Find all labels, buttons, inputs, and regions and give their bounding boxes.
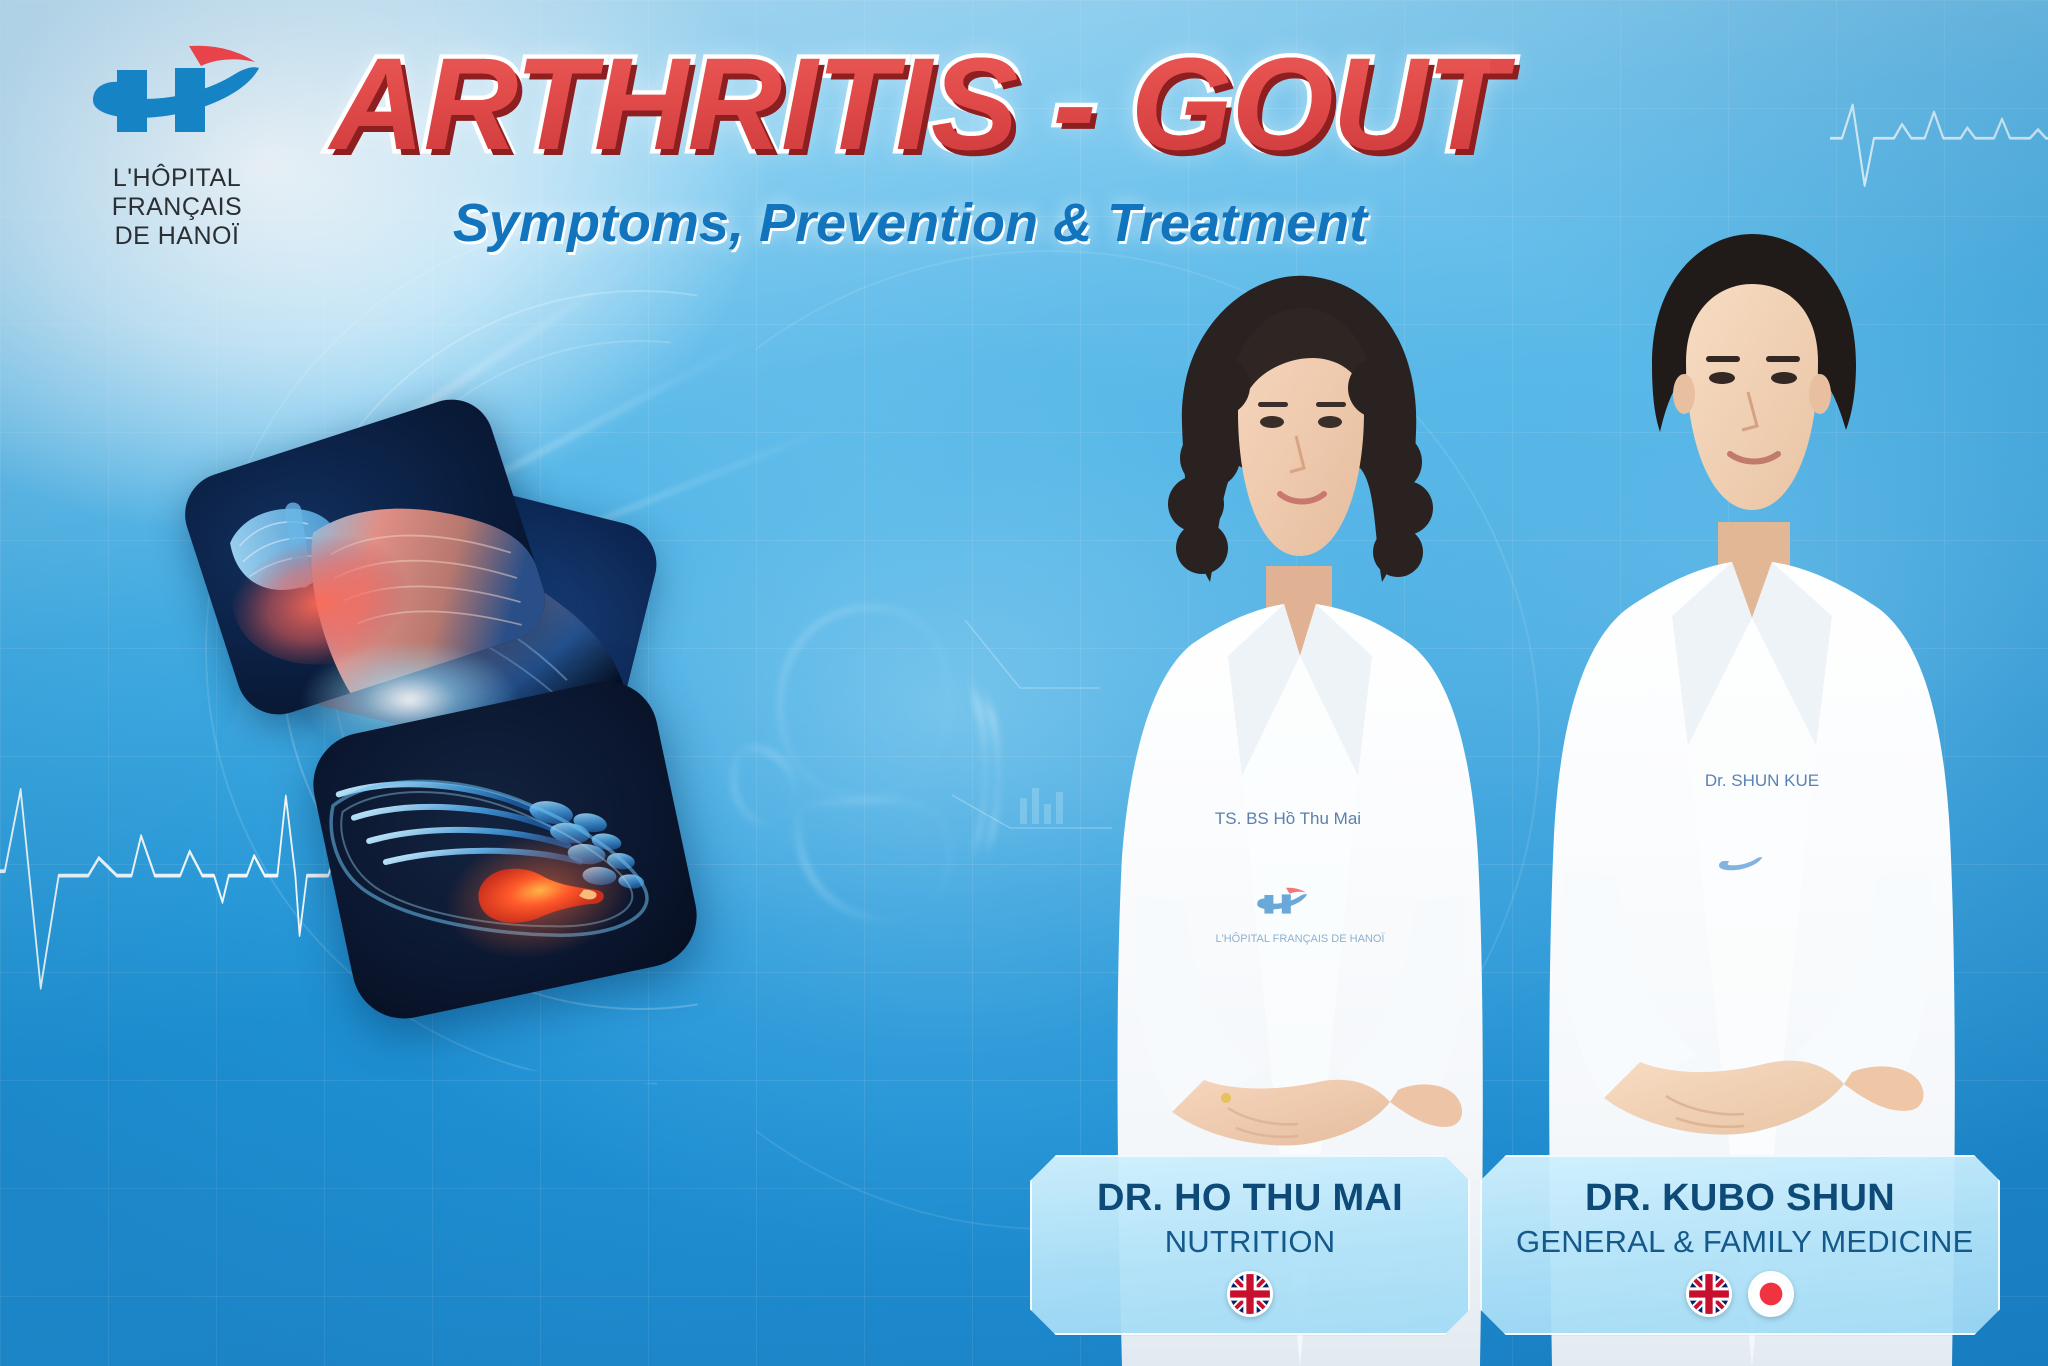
ecg-right-path [1830,105,2048,186]
logo-line-1: L'HÔPITAL [62,164,292,193]
doctor-specialty: GENERAL & FAMILY MEDICINE [1516,1224,1964,1260]
poster-title: ARTHRITIS - GOUT [330,38,1490,169]
japan-flag-icon [1748,1271,1794,1317]
language-flags [1066,1271,1434,1317]
hospital-logo-text: L'HÔPITAL FRANÇAIS DE HANOÏ [62,164,292,251]
uk-flag-icon [1227,1271,1273,1317]
doctor-card-kubo-shun[interactable]: DR. KUBO SHUN GENERAL & FAMILY MEDICINE [1480,1155,2000,1335]
poster-canvas: L'HÔPITAL FRANÇAIS DE HANOÏ ARTHRITIS - … [0,0,2048,1366]
doctor-card-ho-thu-mai[interactable]: DR. HO THU MAI NUTRITION [1030,1155,1470,1335]
hospital-logo: L'HÔPITAL FRANÇAIS DE HANOÏ [62,40,292,251]
doctor-name: DR. KUBO SHUN [1516,1177,1964,1220]
coat-badge-text-mai: TS. BS Hồ Thu Mai [1215,809,1361,828]
hospital-logo-mark [89,40,265,158]
logo-line-2: FRANÇAIS [62,193,292,222]
language-flags [1516,1271,1964,1317]
logo-line-3: DE HANOÏ [62,222,292,251]
doctor-specialty: NUTRITION [1066,1224,1434,1260]
coat-badge-text-kubo: Dr. SHUN KUE [1705,771,1819,790]
uk-flag-icon [1686,1271,1732,1317]
doctor-name: DR. HO THU MAI [1066,1177,1434,1220]
svg-text:L'HÔPITAL FRANÇAIS DE HANOÏ: L'HÔPITAL FRANÇAIS DE HANOÏ [1216,932,1386,945]
title-block: ARTHRITIS - GOUT ARTHRITIS - GOUT Sympto… [330,38,1490,254]
